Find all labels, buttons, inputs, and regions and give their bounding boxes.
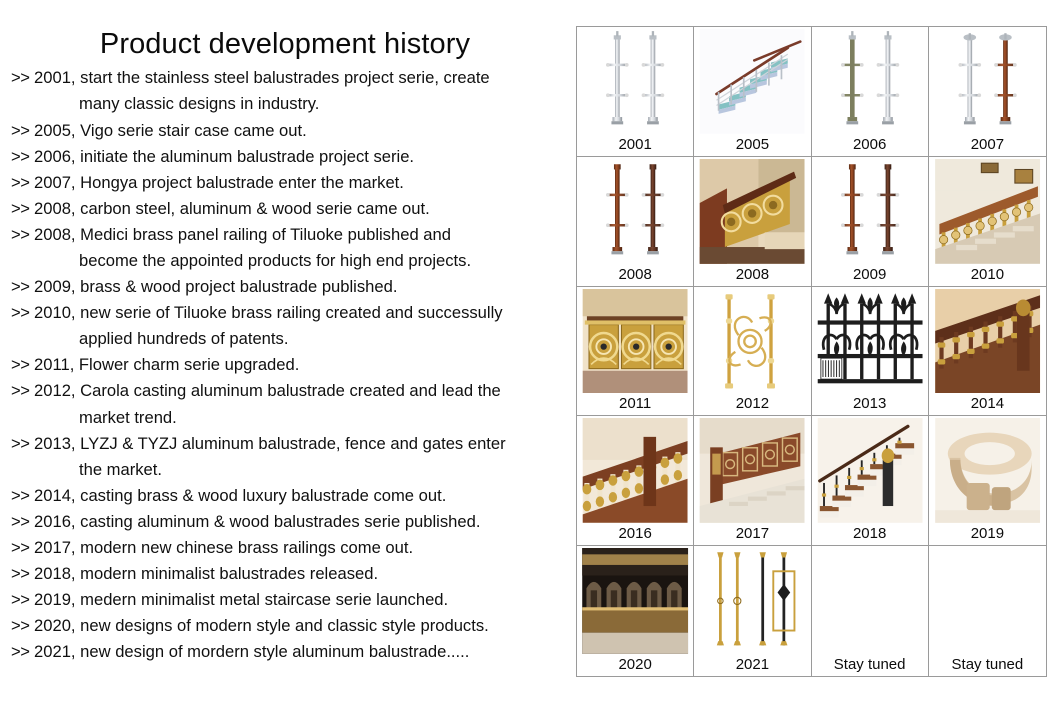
history-item: >> 2017, modern new chinese brass railin… xyxy=(11,535,570,561)
bullet-marker: >> xyxy=(11,170,29,196)
history-item-text: 2013, LYZJ & TYZJ aluminum balustrade, f… xyxy=(34,434,506,453)
gallery-cell[interactable]: 2010 xyxy=(929,157,1046,287)
bullet-marker: >> xyxy=(11,274,29,300)
history-item: >> 2018, modern minimalist balustrades r… xyxy=(11,561,570,587)
product-image-2008 xyxy=(579,159,691,264)
history-item-text: 2019, medern minimalist metal staircase … xyxy=(34,590,448,609)
product-image-2020 xyxy=(579,548,691,654)
gallery-cell[interactable]: 2013 xyxy=(812,287,929,417)
gallery-cell-label: 2007 xyxy=(971,134,1004,156)
gallery-cell[interactable]: 2001 xyxy=(577,27,694,157)
gallery-cell[interactable]: Stay tuned xyxy=(929,546,1046,676)
gallery-cell-label: 2006 xyxy=(853,134,886,156)
product-image-2021 xyxy=(696,548,808,654)
history-item-continuation: market trend. xyxy=(11,405,570,431)
history-item: >> 2008, carbon steel, aluminum & wood s… xyxy=(11,196,570,222)
bullet-marker: >> xyxy=(11,431,29,457)
gallery-cell-label: 2008 xyxy=(618,264,651,286)
history-item-continuation: applied hundreds of patents. xyxy=(11,326,570,352)
gallery-cell[interactable]: 2011 xyxy=(577,287,694,417)
gallery-cell-label: Stay tuned xyxy=(952,654,1024,676)
gallery-cell-label: 2017 xyxy=(736,523,769,545)
bullet-marker: >> xyxy=(11,65,29,91)
bullet-marker: >> xyxy=(11,613,29,639)
history-item: >> 2021, new design of mordern style alu… xyxy=(11,639,570,665)
gallery-cell[interactable]: 2009 xyxy=(812,157,929,287)
bullet-marker: >> xyxy=(11,535,29,561)
history-item-text: 2006, initiate the aluminum balustrade p… xyxy=(34,147,414,166)
history-item: >> 2016, casting aluminum & wood balustr… xyxy=(11,509,570,535)
gallery-cell[interactable]: 2012 xyxy=(694,287,811,417)
product-image-2010 xyxy=(931,159,1044,264)
empty-thumbnail xyxy=(814,548,926,654)
history-item: >> 2007, Hongya project balustrade enter… xyxy=(11,170,570,196)
bullet-marker: >> xyxy=(11,196,29,222)
gallery-cell-label: 2014 xyxy=(971,393,1004,415)
product-image-2008 xyxy=(696,159,808,264)
empty-thumbnail xyxy=(931,548,1044,654)
history-item-text: 2016, casting aluminum & wood balustrade… xyxy=(34,512,480,531)
bullet-marker: >> xyxy=(11,118,29,144)
gallery-cell-label: 2011 xyxy=(619,393,651,415)
gallery-cell-label: Stay tuned xyxy=(834,654,906,676)
bullet-marker: >> xyxy=(11,222,29,248)
history-item-text: 2001, start the stainless steel balustra… xyxy=(34,68,490,87)
bullet-marker: >> xyxy=(11,352,29,378)
bullet-marker: >> xyxy=(11,300,29,326)
bullet-marker: >> xyxy=(11,144,29,170)
gallery-cell[interactable]: 2014 xyxy=(929,287,1046,417)
history-item: >> 2019, medern minimalist metal stairca… xyxy=(11,587,570,613)
gallery-cell-label: 2010 xyxy=(971,264,1004,286)
gallery-cell[interactable]: 2021 xyxy=(694,546,811,676)
product-image-2005 xyxy=(696,29,808,134)
bullet-marker: >> xyxy=(11,561,29,587)
product-image-2017 xyxy=(696,418,808,523)
product-gallery: 2001200520062007200820082009201020112012… xyxy=(576,26,1047,677)
gallery-cell[interactable]: 2006 xyxy=(812,27,929,157)
history-item-text: 2014, casting brass & wood luxury balust… xyxy=(34,486,446,505)
history-item-continuation: many classic designs in industry. xyxy=(11,91,570,117)
history-item-text: 2017, modern new chinese brass railings … xyxy=(34,538,413,557)
gallery-cell-label: 2001 xyxy=(618,134,651,156)
history-item: >> 2011, Flower charm serie upgraded. xyxy=(11,352,570,378)
history-item-text: 2011, Flower charm serie upgraded. xyxy=(34,355,299,374)
history-item: >> 2005, Vigo serie stair case came out. xyxy=(11,118,570,144)
product-image-2019 xyxy=(931,418,1044,523)
product-image-2016 xyxy=(579,418,691,523)
product-image-2014 xyxy=(931,289,1044,394)
gallery-cell-label: 2013 xyxy=(853,393,886,415)
product-image-2007 xyxy=(931,29,1044,134)
history-panel: Product development history >> 2001, sta… xyxy=(0,0,570,728)
history-item: >> 2001, start the stainless steel balus… xyxy=(11,65,570,117)
bullet-marker: >> xyxy=(11,587,29,613)
gallery-cell-label: 2018 xyxy=(853,523,886,545)
bullet-marker: >> xyxy=(11,483,29,509)
history-item-text: 2008, carbon steel, aluminum & wood seri… xyxy=(34,199,430,218)
gallery-cell[interactable]: 2008 xyxy=(694,157,811,287)
gallery-grid: 2001200520062007200820082009201020112012… xyxy=(577,27,1046,676)
gallery-cell[interactable]: 2008 xyxy=(577,157,694,287)
gallery-cell[interactable]: 2016 xyxy=(577,416,694,546)
gallery-cell[interactable]: 2018 xyxy=(812,416,929,546)
history-item-text: 2005, Vigo serie stair case came out. xyxy=(34,121,307,140)
history-item-continuation: become the appointed products for high e… xyxy=(11,248,570,274)
gallery-cell[interactable]: 2017 xyxy=(694,416,811,546)
history-item-text: 2009, brass & wood project balustrade pu… xyxy=(34,277,397,296)
history-item-text: 2021, new design of mordern style alumin… xyxy=(34,642,469,661)
product-image-2009 xyxy=(814,159,926,264)
history-item-text: 2007, Hongya project balustrade enter th… xyxy=(34,173,404,192)
gallery-cell-label: 2012 xyxy=(736,393,769,415)
gallery-cell-label: 2016 xyxy=(618,523,651,545)
product-image-2018 xyxy=(814,418,926,523)
history-item: >> 2020, new designs of modern style and… xyxy=(11,613,570,639)
gallery-cell-label: 2008 xyxy=(736,264,769,286)
gallery-cell[interactable]: 2019 xyxy=(929,416,1046,546)
bullet-marker: >> xyxy=(11,509,29,535)
history-item: >> 2008, Medici brass panel railing of T… xyxy=(11,222,570,274)
history-item-text: 2008, Medici brass panel railing of Tilu… xyxy=(34,225,451,244)
product-image-2006 xyxy=(814,29,926,134)
history-item: >> 2009, brass & wood project balustrade… xyxy=(11,274,570,300)
product-image-2001 xyxy=(579,29,691,134)
history-item-continuation: the market. xyxy=(11,457,570,483)
gallery-cell-label: 2005 xyxy=(736,134,769,156)
product-image-2013 xyxy=(814,289,926,394)
history-item: >> 2006, initiate the aluminum balustrad… xyxy=(11,144,570,170)
gallery-cell[interactable]: 2007 xyxy=(929,27,1046,157)
history-item-text: 2018, modern minimalist balustrades rele… xyxy=(34,564,378,583)
gallery-cell-label: 2009 xyxy=(853,264,886,286)
product-image-2011 xyxy=(579,289,691,394)
gallery-cell-label: 2019 xyxy=(971,523,1004,545)
history-list: >> 2001, start the stainless steel balus… xyxy=(0,65,570,665)
product-image-2012 xyxy=(696,289,808,394)
history-item-text: 2012, Carola casting aluminum balustrade… xyxy=(34,381,501,400)
history-item-text: 2010, new serie of Tiluoke brass railing… xyxy=(34,303,503,322)
gallery-cell[interactable]: 2020 xyxy=(577,546,694,676)
history-item-text: 2020, new designs of modern style and cl… xyxy=(34,616,489,635)
history-item: >> 2010, new serie of Tiluoke brass rail… xyxy=(11,300,570,352)
bullet-marker: >> xyxy=(11,378,29,404)
bullet-marker: >> xyxy=(11,639,29,665)
gallery-cell[interactable]: 2005 xyxy=(694,27,811,157)
gallery-cell-label: 2020 xyxy=(618,654,651,676)
history-item: >> 2012, Carola casting aluminum balustr… xyxy=(11,378,570,430)
history-item: >> 2014, casting brass & wood luxury bal… xyxy=(11,483,570,509)
gallery-cell-label: 2021 xyxy=(736,654,769,676)
gallery-cell[interactable]: Stay tuned xyxy=(812,546,929,676)
history-item: >> 2013, LYZJ & TYZJ aluminum balustrade… xyxy=(11,431,570,483)
page-title: Product development history xyxy=(0,0,570,65)
